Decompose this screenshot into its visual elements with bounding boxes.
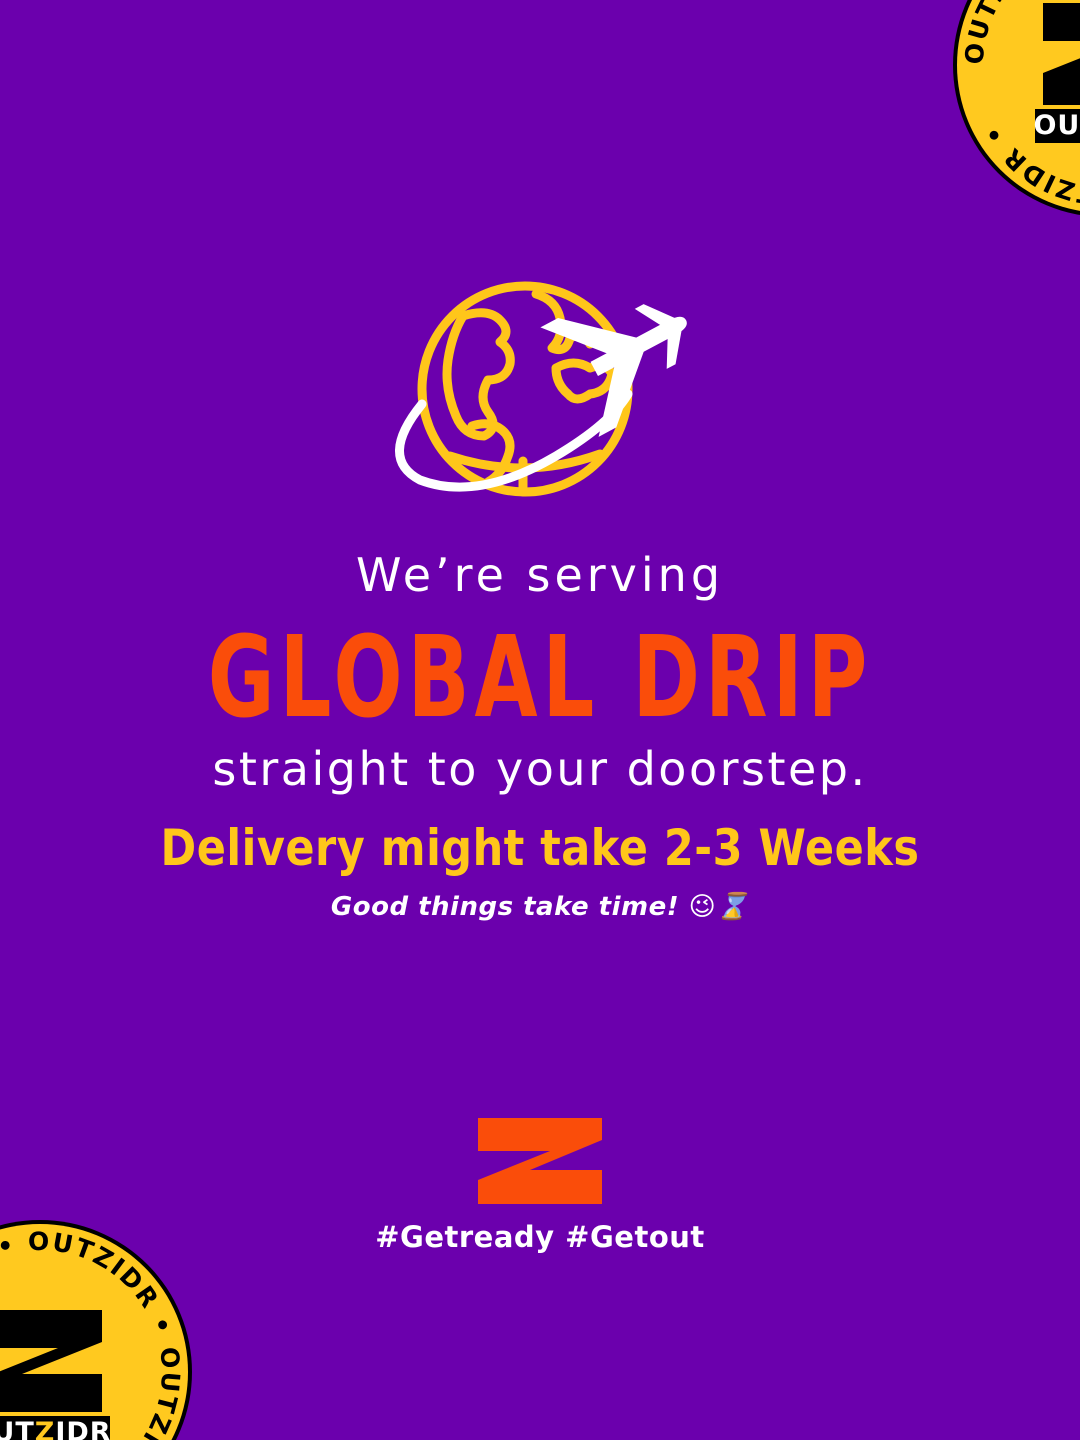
svg-text:OUTZIDR: OUTZIDR bbox=[1033, 110, 1080, 141]
outzidr-sticker-badge-top-right: OUTZIDR • OUTZIDR • OUTZIDR • OUTZIDR • … bbox=[945, 0, 1080, 229]
delivery-note-block: Delivery might take 2-3 Weeks Good thing… bbox=[0, 820, 1080, 922]
headline-block: We’re serving GLOBAL DRIP straight to yo… bbox=[0, 548, 1080, 797]
promo-poster: OUTZIDR • OUTZIDR • OUTZIDR • OUTZIDR • … bbox=[0, 0, 1080, 1440]
globe-airplane-illustration bbox=[0, 272, 1080, 514]
headline-line-pre: We’re serving bbox=[0, 548, 1080, 602]
z-logo-icon bbox=[478, 1118, 602, 1204]
globe-icon bbox=[422, 286, 628, 492]
headline-main: GLOBAL DRIP bbox=[16, 614, 1064, 740]
outzidr-sticker-badge-bottom-left: OUTZIDR • OUTZIDR • OUTZIDR • OUTZIDR • … bbox=[0, 1212, 200, 1440]
svg-text:OUTZIDR: OUTZIDR bbox=[0, 1417, 112, 1440]
delivery-subtext: Good things take time! 😉⌛ bbox=[0, 892, 1080, 922]
headline-line-post: straight to your doorstep. bbox=[0, 742, 1080, 796]
delivery-timeframe: Delivery might take 2-3 Weeks bbox=[0, 820, 1080, 878]
